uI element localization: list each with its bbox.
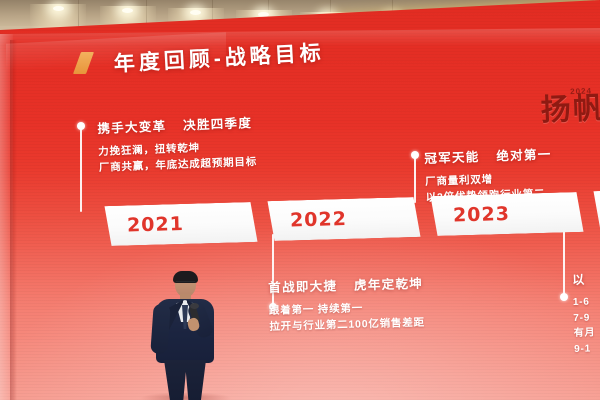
brand-logo: 2024 扬帆 xyxy=(540,86,600,126)
milestone-2024-line-2: 7-9 xyxy=(573,310,595,326)
brand-logo-year: 2024 xyxy=(570,86,600,96)
milestone-2024-title: 以 xyxy=(572,270,594,288)
presenter xyxy=(148,272,222,400)
milestone-2023-title-main: 冠军天能 xyxy=(424,150,480,166)
conference-stage-photo: 年度回顾-战略目标 2024 扬帆 携手大变革 决胜四季度 力挽狂澜，扭转乾坤 … xyxy=(0,0,600,400)
year-label-2022: 2022 xyxy=(290,208,347,232)
milestone-2021-title-main: 携手大变革 xyxy=(97,119,167,136)
milestone-2022-title: 首战即大捷 虎年定乾坤 xyxy=(268,273,424,296)
milestone-2022-title-sub: 虎年定乾坤 xyxy=(354,277,423,293)
milestone-2022-title-main: 首战即大捷 xyxy=(268,279,337,295)
glasses-icon xyxy=(176,281,195,286)
presenter-arm-left xyxy=(150,303,170,354)
downlight xyxy=(190,10,201,15)
brand-logo-mark: 扬帆 xyxy=(540,95,600,126)
milestone-2023-title: 冠军天能 绝对第一 xyxy=(424,144,552,167)
downlight xyxy=(258,12,269,17)
milestone-2023-title-sub: 绝对第一 xyxy=(496,148,552,164)
year-label-2023: 2023 xyxy=(453,203,510,227)
timeline-connector-2023 xyxy=(414,157,416,203)
microphone-head-icon xyxy=(190,303,199,309)
timeline-connector-2021 xyxy=(80,128,82,212)
year-label-2021: 2021 xyxy=(127,213,184,237)
milestone-2024-line-3: 有月 xyxy=(574,325,596,341)
downlight xyxy=(122,8,133,13)
milestone-2024-line-4: 9-1 xyxy=(574,341,596,357)
milestone-2024: 以 1-6 7-9 有月 9-1 xyxy=(572,270,596,357)
timeline-connector-2024 xyxy=(563,224,565,296)
year-banner-2022: 2022 xyxy=(267,197,420,241)
milestone-2021: 携手大变革 决胜四季度 力挽狂澜，扭转乾坤 厂商共赢，年底达成超预期目标 xyxy=(97,112,257,177)
timeline-node-dot-2024 xyxy=(560,293,568,301)
year-banner-2021: 2021 xyxy=(104,202,257,246)
presenter-legs xyxy=(164,360,206,400)
downlight xyxy=(53,6,64,11)
milestone-2022: 首战即大捷 虎年定乾坤 跟着第一 持续第一 拉开与行业第二100亿销售差距 xyxy=(268,273,425,336)
year-banner-2023: 2023 xyxy=(430,192,583,236)
milestone-2021-title-sub: 决胜四季度 xyxy=(183,116,253,133)
milestone-2024-line-1: 1-6 xyxy=(573,294,595,310)
